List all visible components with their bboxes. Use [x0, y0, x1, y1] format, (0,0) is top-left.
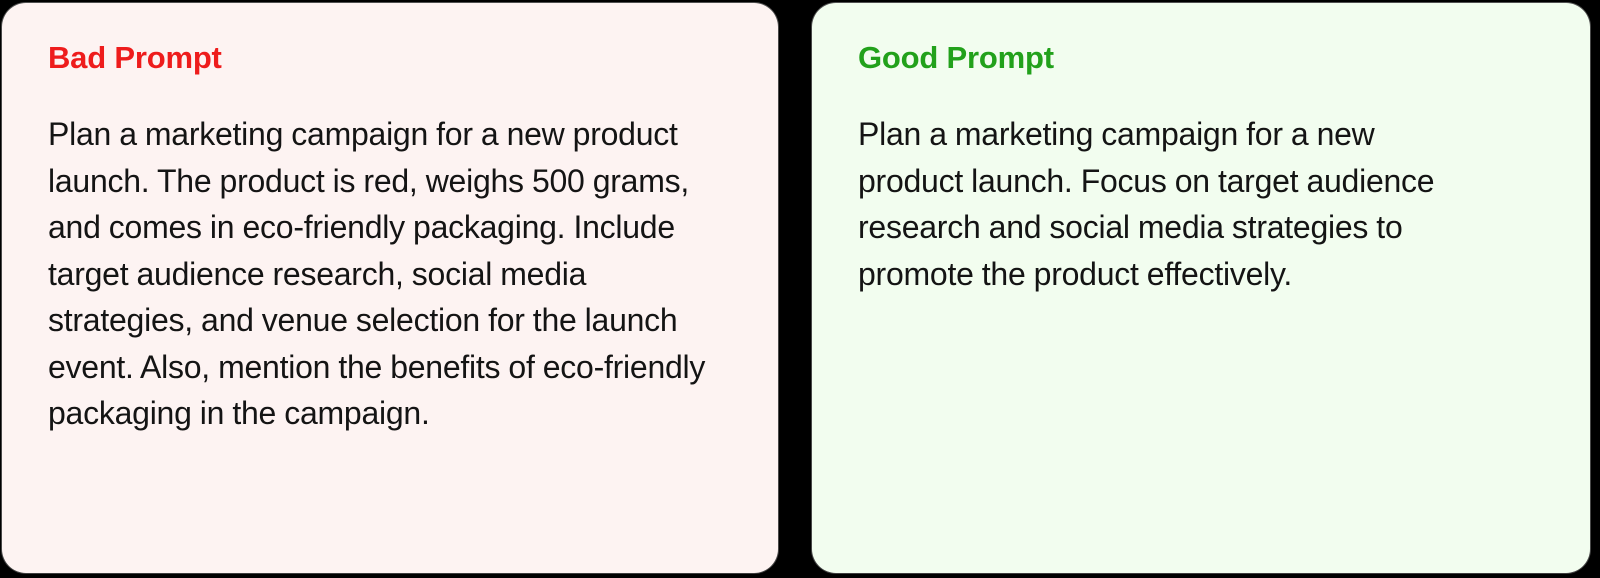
bad-prompt-title: Bad Prompt: [48, 41, 732, 75]
good-prompt-body-text: Plan a marketing campaign for a new prod…: [858, 111, 1478, 297]
bad-prompt-card: Bad Prompt Plan a marketing campaign for…: [2, 3, 778, 573]
prompt-comparison-board: Bad Prompt Plan a marketing campaign for…: [0, 0, 1600, 578]
good-prompt-card: Good Prompt Plan a marketing campaign fo…: [812, 3, 1590, 573]
bad-prompt-body-text: Plan a marketing campaign for a new prod…: [48, 111, 720, 437]
good-prompt-title: Good Prompt: [858, 41, 1544, 75]
